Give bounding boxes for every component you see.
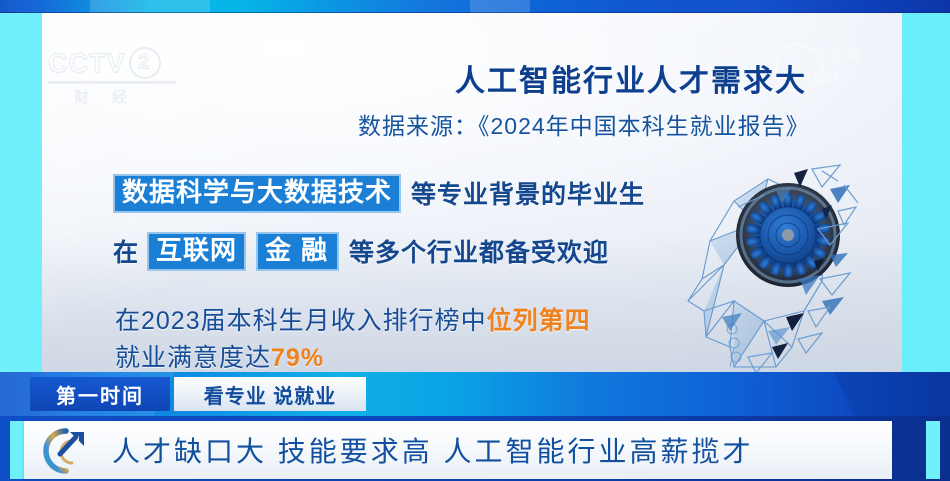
body-line-2-suffix: 等多个行业都备受欢迎: [349, 233, 609, 269]
stat-satisfaction-lead: 就业满意度达: [115, 344, 271, 372]
cctv-subtitle: 财 经: [48, 86, 188, 107]
stat-line-rank: 在2023届本科生月收入排行榜中位列第四: [115, 301, 591, 337]
cctv-sub-right: 经: [112, 86, 128, 107]
content-stage: CCTV 2 财 经 央视网 com 人工智能行业人才需求大 数据来源：《202…: [0, 13, 950, 372]
cctv-sub-left: 财: [74, 86, 90, 107]
page-title: 人工智能行业人才需求大: [455, 56, 807, 100]
cctv2-channel-logo: CCTV 2 财 经: [48, 47, 188, 109]
cctv-wordmark: CCTV 2: [48, 47, 188, 79]
body-line-2-prefix: 在: [113, 233, 139, 269]
broadcast-frame: CCTV 2 财 经 央视网 com 人工智能行业人才需求大 数据来源：《202…: [0, 0, 950, 481]
ticker-cap-left: [10, 421, 24, 479]
stat-rank-lead: 在2023届本科生月收入排行榜中: [115, 307, 487, 335]
highlight-chip-majors: 数据科学与大数据技术: [113, 174, 401, 213]
cctv-channel-number: 2: [129, 47, 161, 79]
rising-arrow-swoosh-logo: [36, 424, 98, 476]
left-cyan-rail: [0, 13, 42, 372]
highlight-chip-finance: 金融: [256, 232, 339, 271]
stat-rank-highlight: 位列第四: [487, 307, 591, 335]
subtitle-source: 数据来源：《2024年中国本科生就业报告》: [358, 107, 810, 141]
ticker-cap-right: [926, 421, 940, 479]
body-line-1-suffix: 等专业背景的毕业生: [411, 175, 645, 211]
highlight-chip-internet: 互联网: [147, 232, 246, 271]
right-cyan-rail: [902, 13, 950, 372]
cctv-underline: [48, 81, 176, 84]
body-line-2: 在 互联网 金融 等多个行业都备受欢迎: [113, 232, 609, 271]
segment-tag: 看专业 说就业: [174, 377, 366, 411]
ai-head-gear-illustration: [672, 161, 900, 372]
ticker-headline: 人才缺口大 技能要求高 人工智能行业高薪揽才: [112, 430, 754, 470]
cctv-letters: CCTV: [48, 48, 126, 79]
ticker-bar: 人才缺口大 技能要求高 人工智能行业高薪揽才: [24, 421, 892, 479]
stat-line-satisfaction: 就业满意度达79%: [115, 338, 324, 372]
body-line-1: 数据科学与大数据技术 等专业背景的毕业生: [113, 174, 645, 213]
program-tag: 第一时间: [30, 377, 170, 411]
stat-satisfaction-highlight: 79%: [271, 344, 324, 372]
